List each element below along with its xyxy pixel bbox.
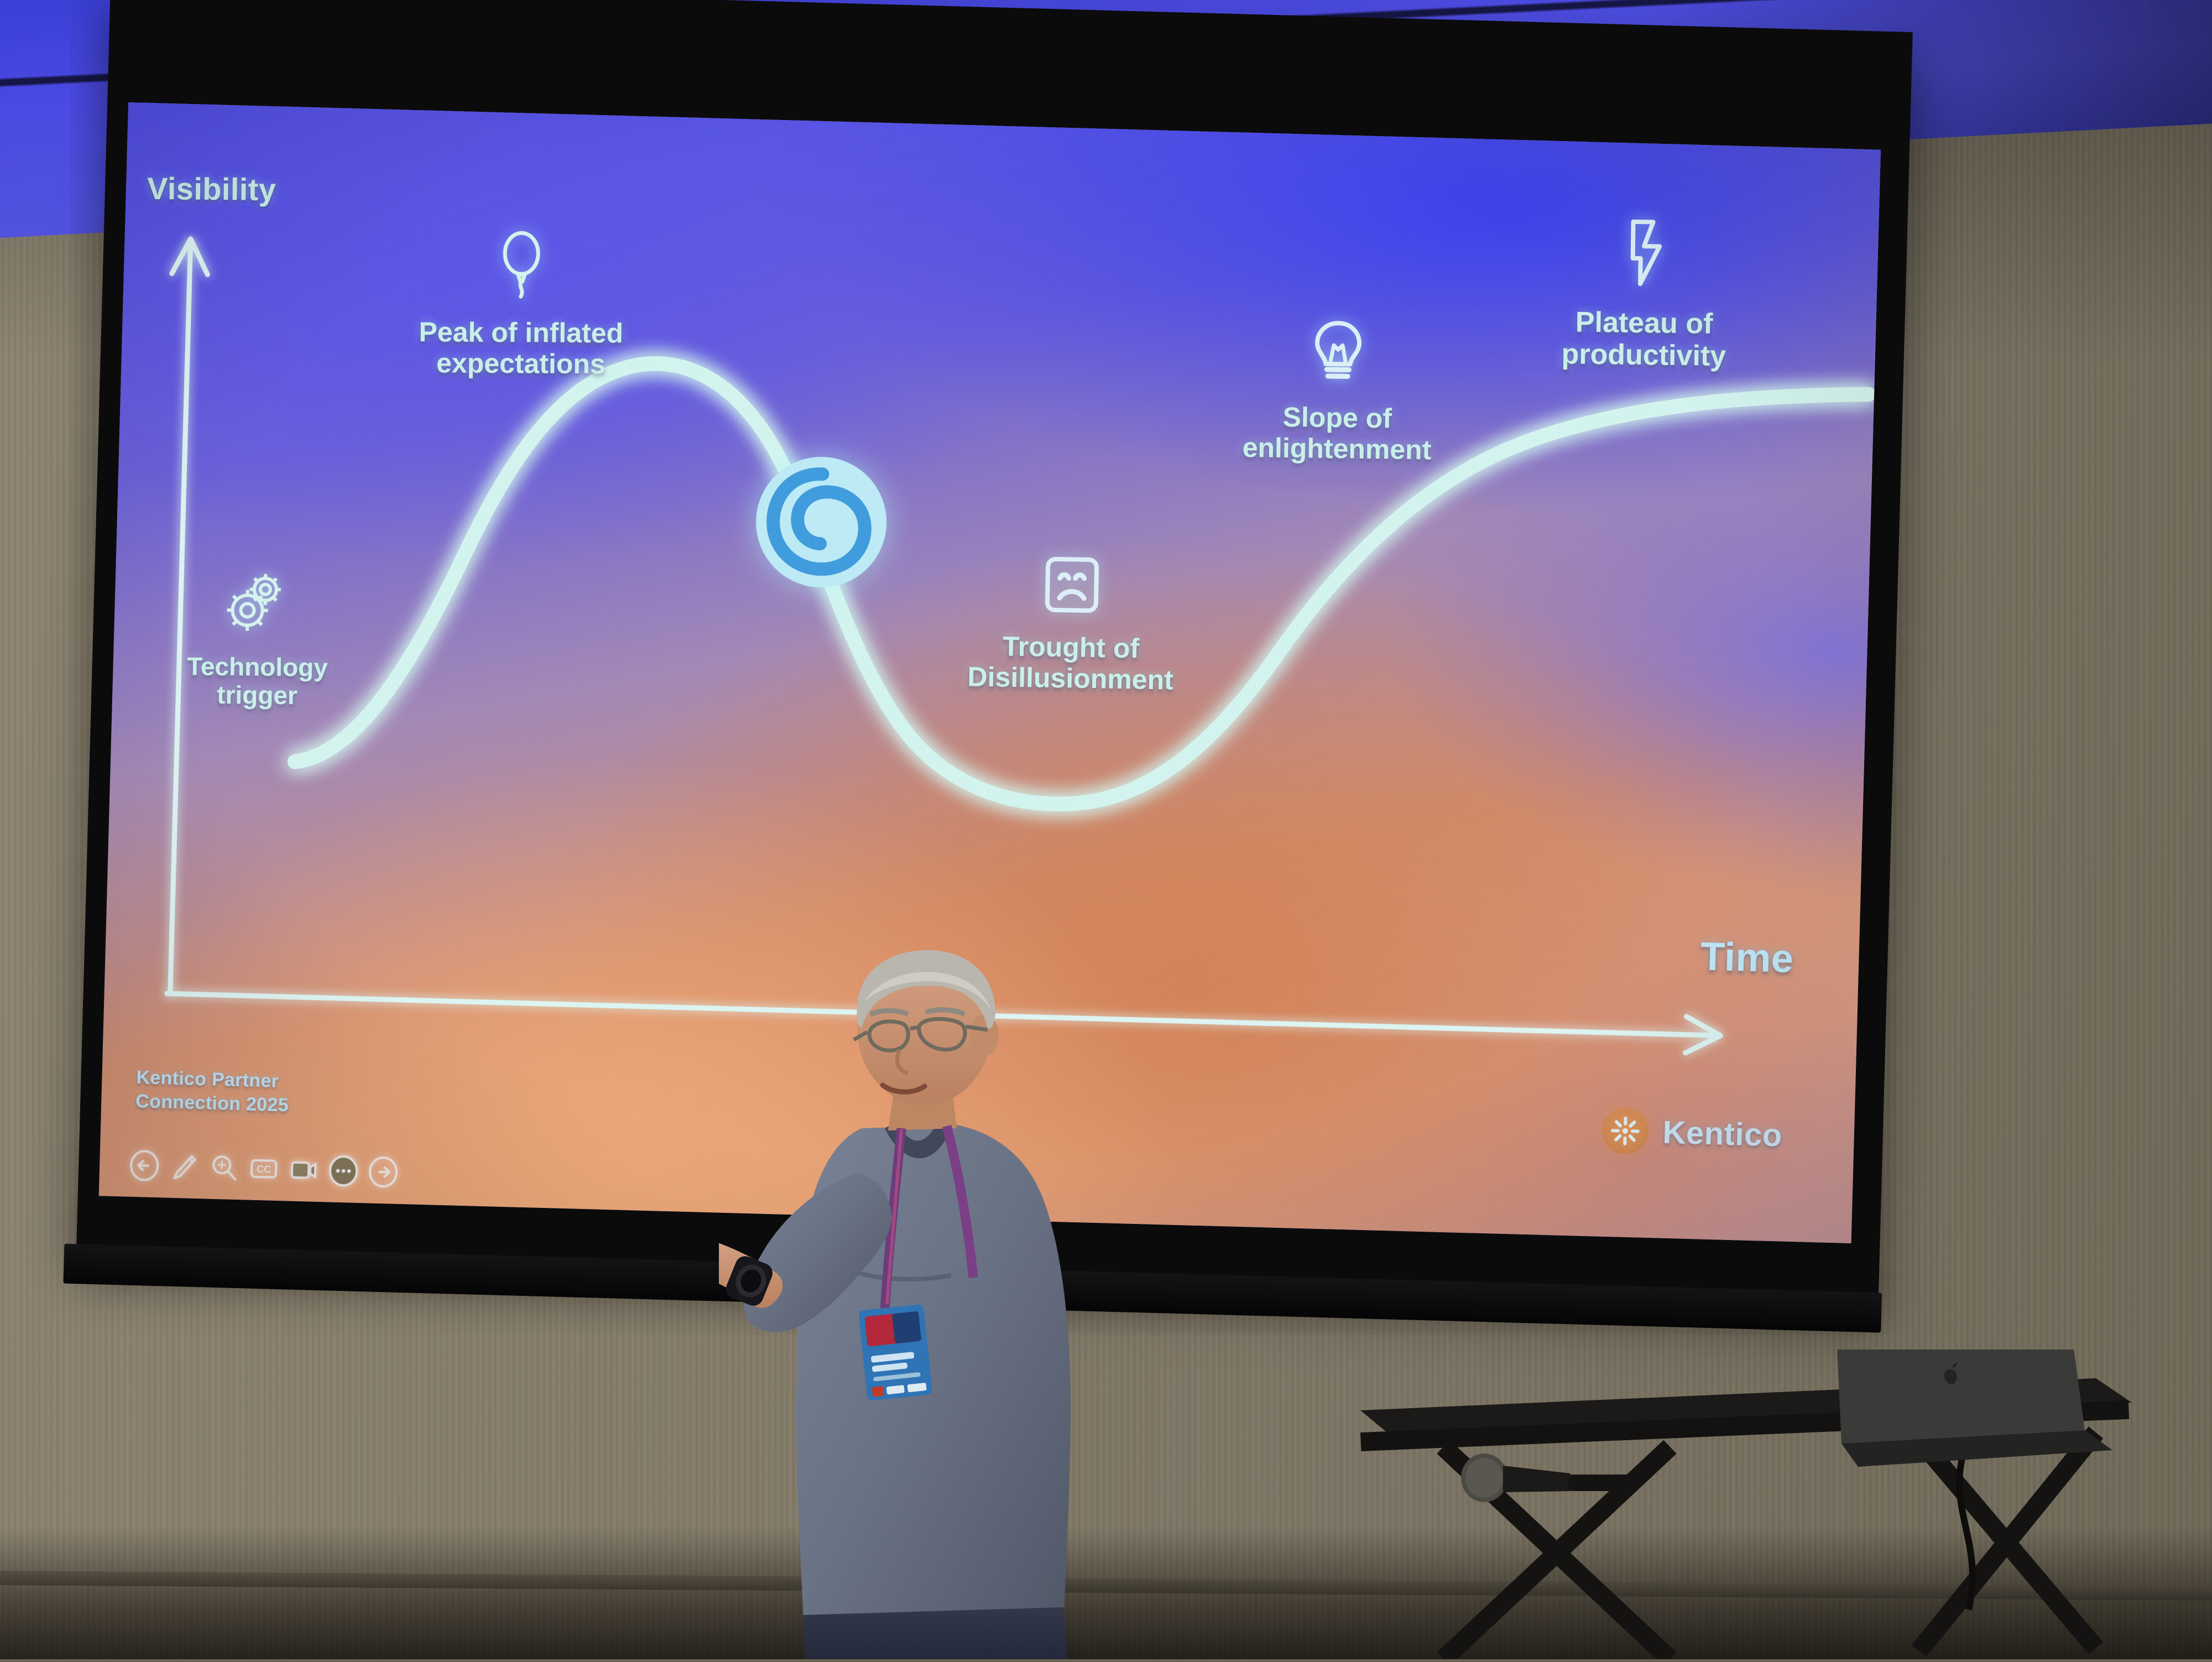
magnifier-icon[interactable] (206, 1150, 242, 1186)
stage-label: Technology trigger (141, 652, 374, 711)
center-marker-badge (750, 451, 893, 593)
asterisk-glyph (1609, 1115, 1641, 1147)
room-scene: Visibility Time (0, 0, 2212, 1659)
lightbulb-icon (1188, 316, 1488, 394)
stage-label: Slope of enlightenment (1187, 400, 1486, 466)
arrow-left-circle-icon[interactable] (127, 1148, 162, 1184)
stage-plateau-of-productivity: Plateau of productivity (1494, 213, 1795, 374)
ellipsis-circle-icon[interactable] (326, 1153, 361, 1189)
arrow-right-circle-icon[interactable] (366, 1154, 401, 1190)
brand-lockup: Kentico (1601, 1107, 1783, 1159)
lightning-bolt-icon (1495, 213, 1795, 299)
kentico-asterisk-icon (1601, 1107, 1649, 1155)
stage-label: Peak of inflated expectations (366, 316, 676, 380)
sad-face-square-icon (900, 551, 1244, 624)
stage-slope-of-enlightenment: Slope of enlightenment (1187, 316, 1488, 466)
brand-name: Kentico (1662, 1113, 1783, 1154)
stage-technology-trigger: Technology trigger (141, 570, 374, 711)
y-axis-label: Visibility (147, 170, 276, 207)
jeans (803, 1607, 1067, 1659)
gears-icon (142, 570, 374, 644)
svg-text:CC: CC (257, 1164, 272, 1175)
stage-peak-of-inflated-expectations: Peak of inflated expectations (366, 228, 677, 380)
macbook (1836, 1350, 2112, 1467)
balloon-icon (367, 228, 677, 308)
badge (858, 1304, 932, 1401)
closed-captions-icon[interactable]: CC (246, 1151, 281, 1186)
stage-trough-of-disillusionment: Trought of Disillusionment (899, 551, 1244, 696)
pen-icon[interactable] (166, 1149, 202, 1185)
presenter (719, 946, 1217, 1659)
slide-footer-text: Kentico Partner Connection 2025 (135, 1066, 290, 1118)
x-axis-label: Time (1700, 934, 1794, 982)
video-camera-icon[interactable] (286, 1152, 321, 1187)
spiral-swirl-logo-icon (750, 451, 893, 593)
microphone (1460, 1449, 1642, 1510)
stage-label: Trought of Disillusionment (899, 629, 1243, 696)
stage-label: Plateau of productivity (1494, 305, 1793, 374)
